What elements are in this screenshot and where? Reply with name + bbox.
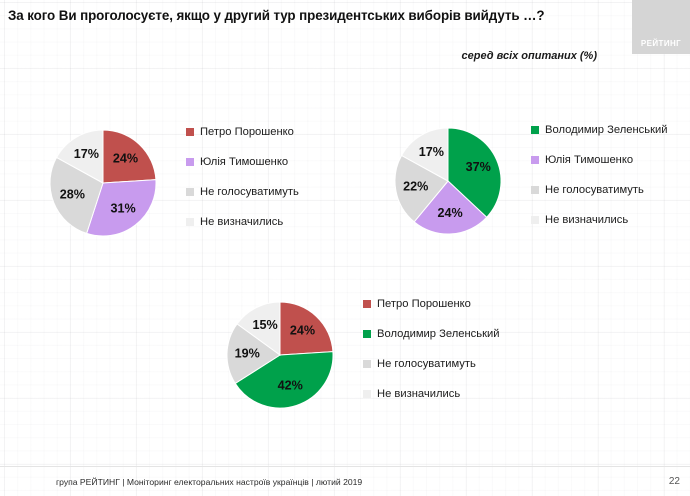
legend-item[interactable]: Не голосуватимуть <box>186 177 299 207</box>
legend-item[interactable]: Не визначились <box>363 379 499 409</box>
legend-item-label: Не визначились <box>200 216 283 228</box>
legend-swatch-icon <box>363 300 371 308</box>
legend-swatch-icon <box>186 218 194 226</box>
legend-item[interactable]: Петро Порошенко <box>363 289 499 319</box>
legend-item-label: Володимир Зеленський <box>545 124 667 136</box>
legend-swatch-icon <box>186 188 194 196</box>
rating-logo-text: РЕЙТИНГ <box>641 39 681 48</box>
pie-slice-label: 37% <box>466 160 491 174</box>
legend-item-label: Юлія Тимошенко <box>200 156 288 168</box>
legend-item-label: Не голосуватимуть <box>200 186 299 198</box>
legend-item[interactable]: Володимир Зеленський <box>363 319 499 349</box>
legend-item[interactable]: Не голосуватимуть <box>363 349 499 379</box>
pie-slice-label: 24% <box>437 206 462 220</box>
pie-slice-label: 24% <box>113 151 138 165</box>
legend-item[interactable]: Юлія Тимошенко <box>186 147 299 177</box>
legend-item[interactable]: Не визначились <box>186 207 299 237</box>
legend-swatch-icon <box>363 390 371 398</box>
pie-svg-2: 37%24%22%17% <box>392 125 504 237</box>
pie-chart-3: 24%42%19%15% <box>224 299 336 411</box>
legend-swatch-icon <box>531 156 539 164</box>
pie-slice-label: 19% <box>235 346 260 360</box>
slide-canvas: За кого Ви проголосуєте, якщо у другий т… <box>0 0 690 496</box>
pie-slice-label: 28% <box>60 187 85 201</box>
legend-swatch-icon <box>186 128 194 136</box>
chart-subtitle: серед всіх опитаних (%) <box>462 50 597 62</box>
pie-slice-label: 17% <box>74 147 99 161</box>
pie-slice-label: 17% <box>419 145 444 159</box>
legend-item-label: Не голосуватимуть <box>377 358 476 370</box>
legend-item-label: Не визначились <box>545 214 628 226</box>
legend-swatch-icon <box>531 216 539 224</box>
legend-item-label: Володимир Зеленський <box>377 328 499 340</box>
pie-slice-label: 22% <box>403 180 428 194</box>
legend-swatch-icon <box>363 330 371 338</box>
legend-swatch-icon <box>186 158 194 166</box>
legend-item-label: Не визначились <box>377 388 460 400</box>
page-title: За кого Ви проголосуєте, якщо у другий т… <box>8 8 628 25</box>
legend-item[interactable]: Володимир Зеленський <box>531 115 667 145</box>
legend-item[interactable]: Петро Порошенко <box>186 117 299 147</box>
page-number: 22 <box>669 476 680 487</box>
legend-item-label: Петро Порошенко <box>200 126 294 138</box>
legend-item-label: Петро Порошенко <box>377 298 471 310</box>
legend-item-label: Не голосуватимуть <box>545 184 644 196</box>
legend-item[interactable]: Юлія Тимошенко <box>531 145 667 175</box>
legend-item-label: Юлія Тимошенко <box>545 154 633 166</box>
pie-slice-label: 42% <box>278 379 303 393</box>
legend-1: Петро ПорошенкоЮлія ТимошенкоНе голосува… <box>186 117 299 237</box>
legend-2: Володимир ЗеленськийЮлія ТимошенкоНе гол… <box>531 115 667 235</box>
pie-chart-2: 37%24%22%17% <box>392 125 504 237</box>
legend-swatch-icon <box>531 186 539 194</box>
pie-svg-3: 24%42%19%15% <box>224 299 336 411</box>
footer-divider <box>0 466 690 467</box>
legend-3: Петро ПорошенкоВолодимир ЗеленськийНе го… <box>363 289 499 409</box>
pie-slice-label: 31% <box>110 201 135 215</box>
legend-swatch-icon <box>531 126 539 134</box>
pie-slice-label: 15% <box>252 318 277 332</box>
pie-svg-1: 24%31%28%17% <box>47 127 159 239</box>
footer-source: група РЕЙТИНГ | Моніторинг електоральних… <box>56 477 362 487</box>
legend-swatch-icon <box>363 360 371 368</box>
legend-item[interactable]: Не голосуватимуть <box>531 175 667 205</box>
pie-slice-label: 24% <box>290 323 315 337</box>
legend-item[interactable]: Не визначились <box>531 205 667 235</box>
pie-chart-1: 24%31%28%17% <box>47 127 159 239</box>
rating-logo: РЕЙТИНГ <box>632 0 690 54</box>
